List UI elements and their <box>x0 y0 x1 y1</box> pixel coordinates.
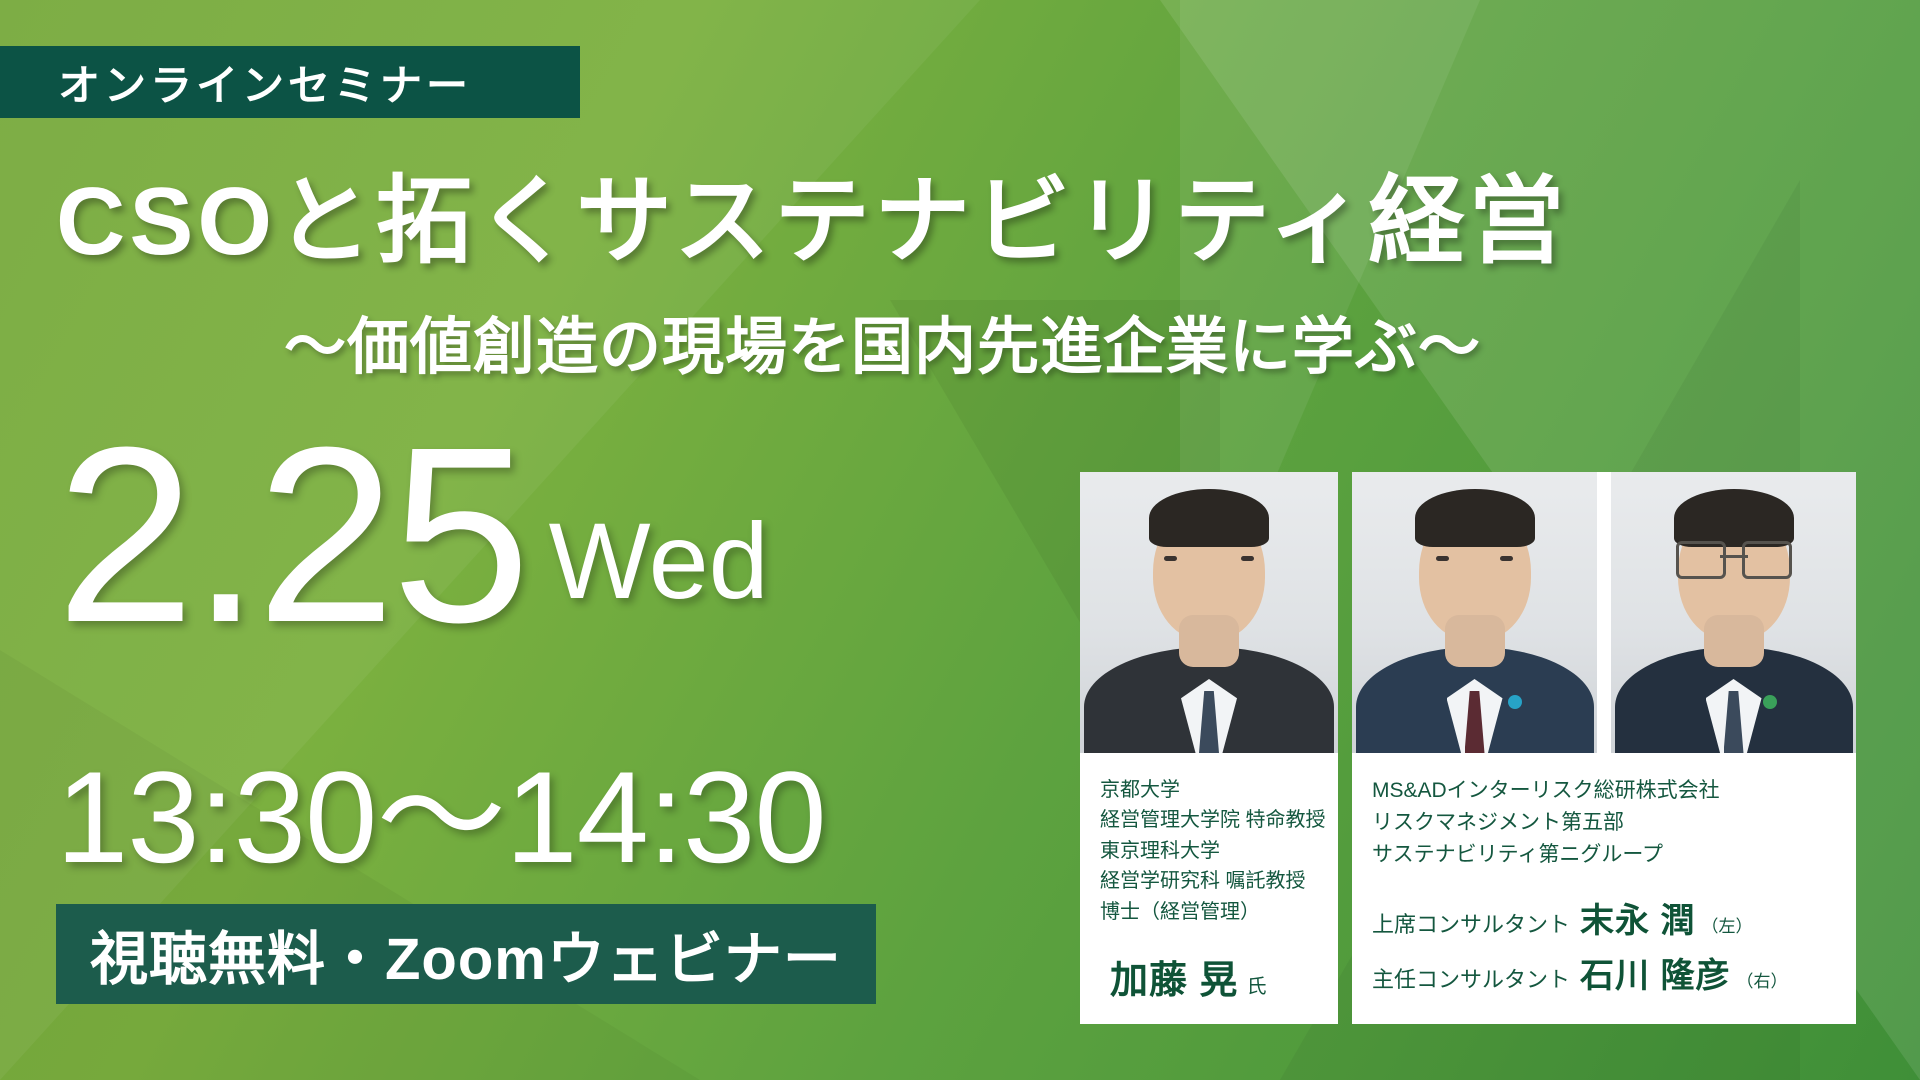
event-day-of-week: Wed <box>527 507 769 637</box>
event-date: 2.25 Wed <box>56 432 769 637</box>
speaker-org-line: 経営管理大学院 特命教授 <box>1100 805 1320 835</box>
speaker-position-note: （右） <box>1736 967 1787 992</box>
speaker-name-suffix: 氏 <box>1247 970 1267 999</box>
photo-hair <box>1149 489 1269 547</box>
kicker-label: オンラインセミナー <box>58 52 472 113</box>
speaker-meta: MS&ADインターリスク総研株式会社 リスクマネジメント第五部 サステナビリティ… <box>1352 753 1856 1017</box>
speaker-role: 上席コンサルタント <box>1372 907 1570 939</box>
speaker-name: 加藤 晃 <box>1110 949 1239 1004</box>
photo-lapel-pin-icon <box>1763 695 1777 709</box>
speaker-name: 末永 潤 <box>1580 893 1695 942</box>
speaker-name: 石川 隆彦 <box>1580 948 1730 997</box>
page-title: CSOと拓くサステナビリティ経営 <box>56 143 1568 282</box>
event-time: 13:30〜14:30 <box>56 752 826 882</box>
speaker-org-line: サステナビリティ第ニグループ <box>1372 839 1838 871</box>
photo-lapel-pin-icon <box>1508 695 1522 709</box>
speaker-position-note: （左） <box>1701 912 1752 937</box>
speaker-org-line: 経営学研究科 嘱託教授 <box>1100 866 1320 896</box>
page-subtitle: 〜価値創造の現場を国内先進企業に学ぶ〜 <box>284 296 1481 386</box>
speaker-card: MS&ADインターリスク総研株式会社 リスクマネジメント第五部 サステナビリティ… <box>1352 472 1856 1024</box>
photo-neck <box>1179 615 1239 667</box>
photo-neck <box>1704 615 1764 667</box>
seminar-banner: オンラインセミナー CSOと拓くサステナビリティ経営 〜価値創造の現場を国内先進… <box>0 0 1920 1080</box>
photo-hair <box>1674 489 1794 547</box>
speaker-name-row: 上席コンサルタント 末永 潤 （左） <box>1372 893 1838 942</box>
speaker-photo <box>1080 472 1338 753</box>
speaker-photos <box>1080 472 1338 753</box>
speaker-name-row: 主任コンサルタント 石川 隆彦 （右） <box>1372 948 1838 997</box>
speaker-meta: 京都大学 経営管理大学院 特命教授 東京理科大学 経営学研究科 嘱託教授 博士（… <box>1080 753 1338 1024</box>
speaker-org-line: リスクマネジメント第五部 <box>1372 807 1838 839</box>
speaker-photo <box>1352 472 1597 753</box>
kicker-badge: オンラインセミナー <box>0 46 580 118</box>
free-viewing-badge: 視聴無料・Zoomウェビナー <box>56 904 876 1004</box>
speaker-org-line: 京都大学 <box>1100 775 1320 805</box>
speaker-org-line: 東京理科大学 <box>1100 836 1320 866</box>
speaker-photo <box>1611 472 1856 753</box>
photo-neck <box>1445 615 1505 667</box>
speaker-names: 上席コンサルタント 末永 潤 （左） 主任コンサルタント 石川 隆彦 （右） <box>1372 893 1838 997</box>
speaker-org-line: 博士（経営管理） <box>1100 897 1320 927</box>
speaker-card: 京都大学 経営管理大学院 特命教授 東京理科大学 経営学研究科 嘱託教授 博士（… <box>1080 472 1338 1024</box>
free-viewing-label: 視聴無料・Zoomウェビナー <box>90 912 842 996</box>
speaker-name-row: 加藤 晃 氏 <box>1100 949 1320 1004</box>
photo-eye-left <box>1164 556 1177 561</box>
glasses-icon <box>1676 541 1792 575</box>
photo-eye-right <box>1500 556 1513 561</box>
speaker-org-line: MS&ADインターリスク総研株式会社 <box>1372 775 1838 807</box>
speaker-photos <box>1352 472 1856 753</box>
speaker-names: 加藤 晃 氏 <box>1100 949 1320 1004</box>
speaker-role: 主任コンサルタント <box>1372 962 1570 994</box>
photo-eye-right <box>1241 556 1254 561</box>
photo-eye-left <box>1436 556 1449 561</box>
photo-hair <box>1415 489 1535 547</box>
event-date-number: 2.25 <box>56 432 527 637</box>
speaker-cards: 京都大学 経営管理大学院 特命教授 東京理科大学 経営学研究科 嘱託教授 博士（… <box>1080 472 1856 1024</box>
